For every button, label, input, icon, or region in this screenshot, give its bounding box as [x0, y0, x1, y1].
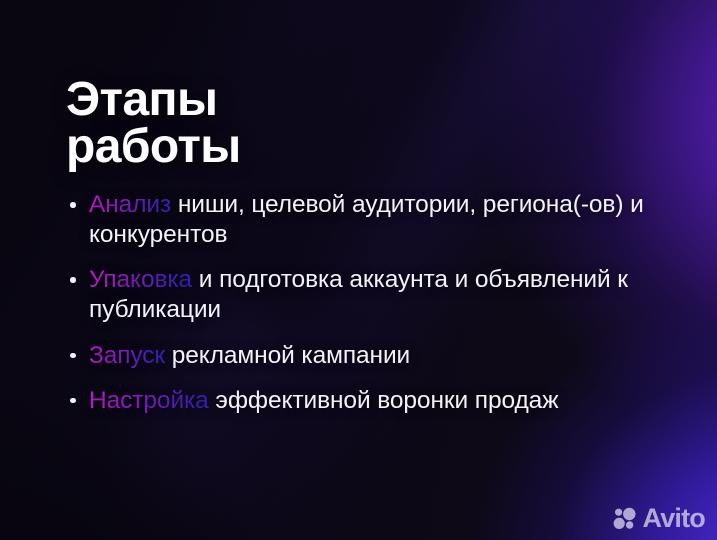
avito-watermark: Avito [612, 505, 706, 532]
step-keyword: Упаковка [89, 266, 192, 293]
slide-canvas: Этапы работы Анализ ниши, целевой аудито… [0, 0, 717, 540]
list-item: Запуск рекламной кампании [64, 341, 664, 371]
list-item: Анализ ниши, целевой аудитории, региона(… [64, 190, 664, 250]
list-item: Упаковка и подготовка аккаунта и объявле… [64, 265, 664, 325]
bullet-dot-icon [70, 353, 76, 359]
slide-content: Этапы работы Анализ ниши, целевой аудито… [0, 0, 717, 540]
page-title: Этапы работы [66, 76, 506, 170]
avito-wordmark: Avito [643, 505, 706, 532]
step-description: ниши, целевой аудитории, региона(-ов) и … [89, 191, 644, 248]
step-keyword: Настройка [89, 387, 209, 414]
step-description: рекламной кампании [165, 342, 410, 369]
bullet-dot-icon [70, 398, 76, 404]
list-item: Настройка эффективной воронки продаж [64, 386, 664, 416]
bullet-dot-icon [70, 202, 76, 208]
avito-logo-icon [612, 506, 638, 532]
step-keyword: Запуск [89, 342, 165, 369]
step-description: эффективной воронки продаж [209, 387, 559, 414]
steps-list: Анализ ниши, целевой аудитории, региона(… [64, 190, 664, 416]
bullet-dot-icon [70, 277, 76, 283]
step-keyword: Анализ [89, 191, 171, 218]
